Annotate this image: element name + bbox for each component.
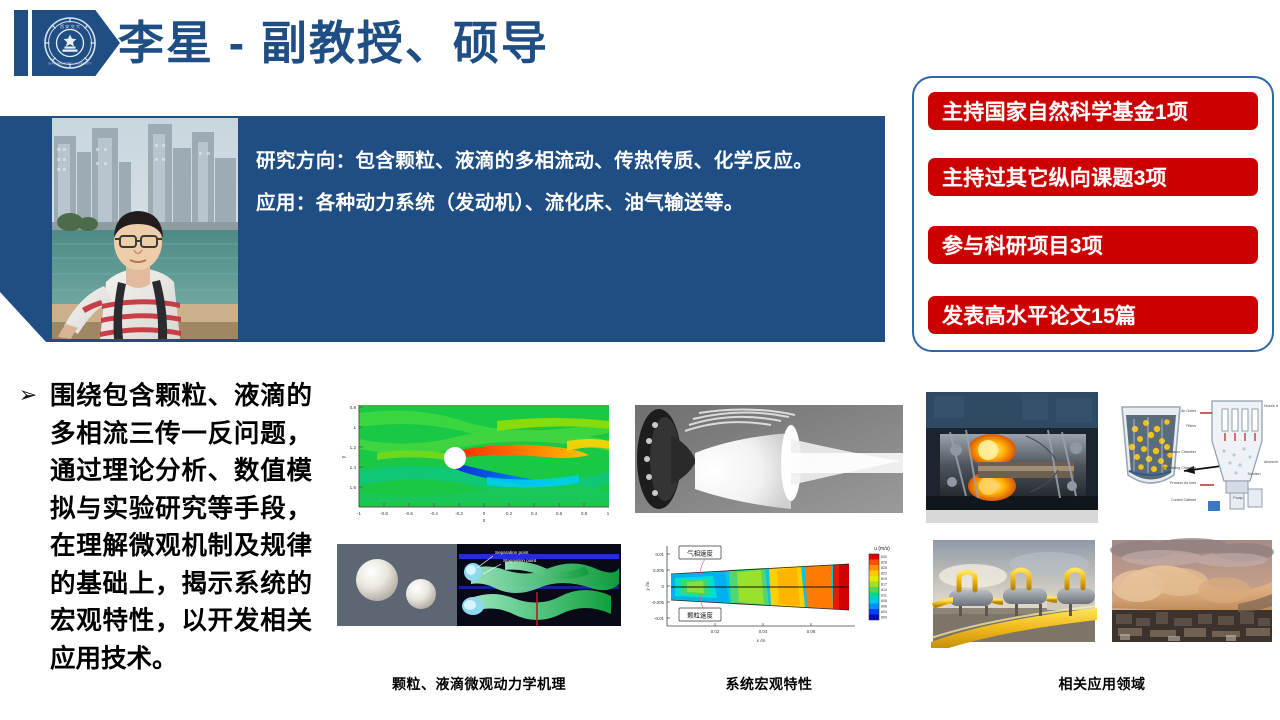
svg-text:Air Outlet: Air Outlet: [1181, 409, 1196, 413]
svg-text:1.6: 1.6: [350, 485, 357, 490]
page-title: 李星 - 副教授、硕导: [118, 6, 549, 80]
svg-text:x /m: x /m: [756, 638, 765, 644]
svg-text:Filters: Filters: [1186, 424, 1196, 428]
svg-text:0.8: 0.8: [350, 405, 357, 410]
svg-text:-0.005: -0.005: [652, 600, 665, 605]
svg-text:0.8: 0.8: [581, 511, 588, 516]
svg-text:828: 828: [881, 561, 887, 565]
university-seal-icon: 西 安 交 大 XI'AN JIAOTONG UNIVERSITY: [42, 15, 98, 71]
svg-text:Nozzle Air: Nozzle Air: [1264, 404, 1278, 408]
bullet-arrow-icon: ➢: [6, 378, 50, 678]
svg-text:气相速度: 气相速度: [687, 549, 713, 558]
svg-text:803: 803: [881, 610, 887, 614]
figure-gas-turbine-engine-photo: [926, 392, 1098, 523]
svg-text:Pump: Pump: [1233, 496, 1242, 500]
figure-cylinder-wake-vorticity-contour: 0.81 1.21.41.6 -1-0.8-0.6 -0.4-0.20 0.20…: [337, 393, 621, 524]
research-line-0: 研究方向：包含颗粒、液滴的多相流动、传热传质、化学反应。: [256, 140, 868, 182]
svg-text:0.04: 0.04: [759, 629, 768, 634]
svg-text:806: 806: [881, 605, 887, 609]
svg-text:800: 800: [881, 616, 887, 620]
svg-text:-1: -1: [357, 511, 361, 516]
svg-text:Granulating Chamber: Granulating Chamber: [1162, 466, 1197, 470]
svg-text:u (m/s): u (m/s): [874, 546, 890, 552]
achievement-item-2[interactable]: 参与科研项目3项: [928, 226, 1258, 264]
bullet-text: 围绕包含颗粒、液滴的多相流三传一反问题，通过理论分析、数值模拟与实验研究等手段，…: [50, 378, 312, 678]
svg-text:-0.8: -0.8: [380, 511, 388, 516]
achievement-box: 主持国家自然科学基金1项 主持过其它纵向课题3项 参与科研项目3项 发表高水平论…: [912, 76, 1274, 352]
svg-text:1.4: 1.4: [350, 465, 357, 470]
slide-root: 西 安 交 大 XI'AN JIAOTONG UNIVERSITY 李星 - 副…: [0, 0, 1280, 720]
svg-text:Stagnation point: Stagnation point: [503, 558, 537, 563]
portrait-photo: [52, 118, 238, 339]
figure-caption-2: 相关应用领域: [926, 674, 1278, 694]
svg-text:825: 825: [881, 566, 887, 570]
svg-text:830: 830: [881, 555, 887, 559]
svg-text:Process Air Inlet: Process Air Inlet: [1170, 481, 1196, 485]
svg-text:819: 819: [881, 577, 887, 581]
svg-text:0.6: 0.6: [556, 511, 563, 516]
svg-text:Atomizing Air: Atomizing Air: [1264, 460, 1278, 464]
achievement-item-0[interactable]: 主持国家自然科学基金1项: [928, 92, 1258, 130]
svg-text:Separation point: Separation point: [495, 550, 529, 555]
svg-text:XI'AN JIAOTONG UNIVERSITY: XI'AN JIAOTONG UNIVERSITY: [48, 62, 92, 66]
svg-text:0.4: 0.4: [531, 511, 538, 516]
figure-spheres-and-wake-visualization: Separation point Stagnation point: [337, 534, 621, 647]
research-line-1: 应用：各种动力系统（发动机）、流化床、油气输送等。: [256, 182, 868, 224]
svg-text:1: 1: [353, 425, 356, 430]
svg-text:Control Cabinet: Control Cabinet: [1171, 498, 1196, 502]
achievement-item-1[interactable]: 主持过其它纵向课题3项: [928, 158, 1258, 196]
svg-text:808: 808: [881, 599, 887, 603]
research-summary-bullet: ➢ 围绕包含颗粒、液滴的多相流三传一反问题，通过理论分析、数值模拟与实验研究等手…: [6, 378, 328, 678]
svg-text:0.005: 0.005: [653, 568, 665, 573]
svg-text:西 安 交 大: 西 安 交 大: [60, 23, 80, 30]
svg-text:Solution: Solution: [1248, 472, 1261, 476]
figure-sandstorm-photo: [1108, 534, 1276, 648]
svg-text:817: 817: [881, 583, 887, 587]
svg-text:Expansion Chamber: Expansion Chamber: [1163, 450, 1196, 454]
svg-text:-0.4: -0.4: [430, 511, 438, 516]
svg-text:颗粒速度: 颗粒速度: [687, 611, 713, 620]
figure-caption-0: 颗粒、液滴微观动力学机理: [337, 674, 621, 694]
svg-text:-0.2: -0.2: [455, 511, 463, 516]
svg-text:0.06: 0.06: [807, 629, 816, 634]
svg-text:811: 811: [881, 594, 887, 598]
figure-fluidized-bed-diagram: Air Outlet Filters Expansion Chamber Gra…: [1104, 389, 1278, 526]
svg-text:814: 814: [881, 588, 887, 592]
svg-text:822: 822: [881, 572, 887, 576]
figure-spray-nozzle-photo: [633, 395, 905, 524]
header-logo-badge: 西 安 交 大 XI'AN JIAOTONG UNIVERSITY: [32, 10, 120, 76]
achievement-item-3[interactable]: 发表高水平论文15篇: [928, 296, 1258, 334]
svg-text:-0.6: -0.6: [405, 511, 413, 516]
figure-caption-1: 系统宏观特性: [633, 674, 905, 694]
svg-text:0.2: 0.2: [506, 511, 513, 516]
header-accent-bar: [14, 10, 28, 76]
svg-text:y /m: y /m: [645, 581, 651, 590]
svg-text:0.01: 0.01: [655, 552, 664, 557]
svg-text:-0.01: -0.01: [654, 616, 665, 621]
svg-text:1.2: 1.2: [350, 445, 357, 450]
figure-gas-pipeline-photo: [929, 534, 1099, 648]
svg-text:0.02: 0.02: [711, 629, 720, 634]
figure-gas-particle-velocity-contour: 0.010.0050 -0.005-0.01 0.020.040.06 x /m…: [633, 534, 905, 647]
research-direction-text: 研究方向：包含颗粒、液滴的多相流动、传热传质、化学反应。 应用：各种动力系统（发…: [256, 140, 868, 224]
